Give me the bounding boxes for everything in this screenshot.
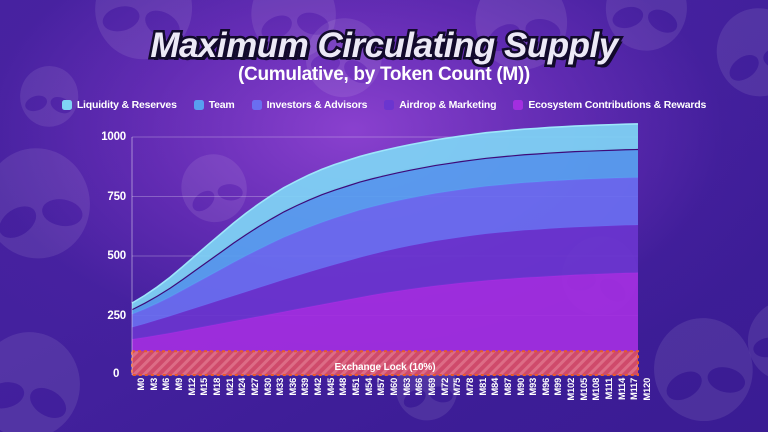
- x-axis-tick-label: M45: [326, 378, 337, 396]
- x-axis-tick-label: M93: [528, 378, 539, 396]
- x-axis-tick-label: M69: [427, 378, 438, 396]
- legend-item-0[interactable]: Liquidity & Reserves: [62, 99, 177, 111]
- x-axis-tick-label: M6: [161, 378, 172, 391]
- legend-swatch-icon: [384, 100, 394, 110]
- x-axis-tick-label: M51: [351, 378, 362, 396]
- x-axis-tick-label: M117: [629, 378, 640, 400]
- legend-item-label: Investors & Advisors: [267, 99, 368, 111]
- x-axis-tick-label: M87: [503, 378, 514, 396]
- x-axis-tick-label: M12: [187, 378, 198, 396]
- x-axis-tick-label: M78: [465, 378, 476, 396]
- legend-item-label: Team: [209, 99, 235, 111]
- y-axis-tick-label: 500: [107, 250, 126, 262]
- x-axis-tick-label: M99: [553, 378, 564, 396]
- x-axis-tick-label: M63: [402, 378, 413, 396]
- x-axis-tick-label: M105: [579, 378, 590, 401]
- legend-item-4[interactable]: Ecosystem Contributions & Rewards: [513, 99, 706, 111]
- legend-item-label: Airdrop & Marketing: [399, 99, 496, 111]
- stacked-area-chart: [132, 137, 638, 375]
- page-subtitle: (Cumulative, by Token Count (M)): [0, 64, 768, 86]
- legend-swatch-icon: [252, 100, 262, 110]
- y-axis-tick-label: 1000: [101, 131, 126, 143]
- legend-item-2[interactable]: Investors & Advisors: [252, 99, 368, 111]
- x-axis-tick-label: M102: [566, 378, 577, 401]
- x-axis-tick-label: M33: [275, 378, 286, 396]
- legend-item-1[interactable]: Team: [194, 99, 235, 111]
- legend-item-label: Ecosystem Contributions & Rewards: [528, 99, 706, 111]
- x-axis-tick-label: M48: [338, 378, 349, 396]
- y-axis-zero-label: 0: [113, 368, 119, 380]
- x-axis-tick-label: M9: [174, 378, 185, 391]
- legend-item-label: Liquidity & Reserves: [77, 99, 177, 111]
- x-axis-tick-label: M3: [149, 378, 160, 391]
- x-axis-tick-label: M0: [136, 378, 147, 391]
- x-axis-tick-label: M120: [642, 378, 653, 401]
- x-axis-tick-label: M108: [591, 378, 602, 401]
- x-axis-tick-label: M96: [541, 378, 552, 396]
- y-axis: 1000750500250: [92, 137, 126, 375]
- y-axis-tick-label: 250: [107, 310, 126, 322]
- x-axis-tick-label: M111: [604, 378, 615, 400]
- x-axis-tick-label: M60: [389, 378, 400, 396]
- x-axis-tick-label: M84: [490, 378, 501, 396]
- legend-item-3[interactable]: Airdrop & Marketing: [384, 99, 496, 111]
- x-axis-tick-label: M75: [452, 378, 463, 396]
- x-axis-tick-label: M57: [376, 378, 387, 396]
- legend-swatch-icon: [194, 100, 204, 110]
- x-axis-tick-label: M18: [212, 378, 223, 396]
- y-axis-tick-label: 750: [107, 191, 126, 203]
- x-axis-tick-label: M27: [250, 378, 261, 396]
- page-title: Maximum Circulating Supply: [0, 26, 768, 66]
- x-axis-tick-label: M54: [364, 378, 375, 396]
- chart-legend: Liquidity & ReservesTeamInvestors & Advi…: [0, 99, 768, 111]
- x-axis-tick-label: M36: [288, 378, 299, 396]
- x-axis-tick-label: M21: [225, 378, 236, 396]
- x-axis-tick-label: M30: [263, 378, 274, 396]
- x-axis-tick-label: M90: [516, 378, 527, 396]
- x-axis: M0M3M6M9M12M15M18M21M24M27M30M33M36M39M4…: [132, 378, 638, 428]
- exchange-lock-label: Exchange Lock (10%): [132, 362, 638, 373]
- x-axis-tick-label: M39: [300, 378, 311, 396]
- legend-swatch-icon: [513, 100, 523, 110]
- x-axis-tick-label: M72: [440, 378, 451, 396]
- x-axis-tick-label: M42: [313, 378, 324, 396]
- x-axis-tick-label: M114: [617, 378, 628, 400]
- x-axis-tick-label: M81: [478, 378, 489, 396]
- legend-swatch-icon: [62, 100, 72, 110]
- x-axis-tick-label: M24: [237, 378, 248, 396]
- x-axis-tick-label: M66: [414, 378, 425, 396]
- x-axis-tick-label: M15: [199, 378, 210, 396]
